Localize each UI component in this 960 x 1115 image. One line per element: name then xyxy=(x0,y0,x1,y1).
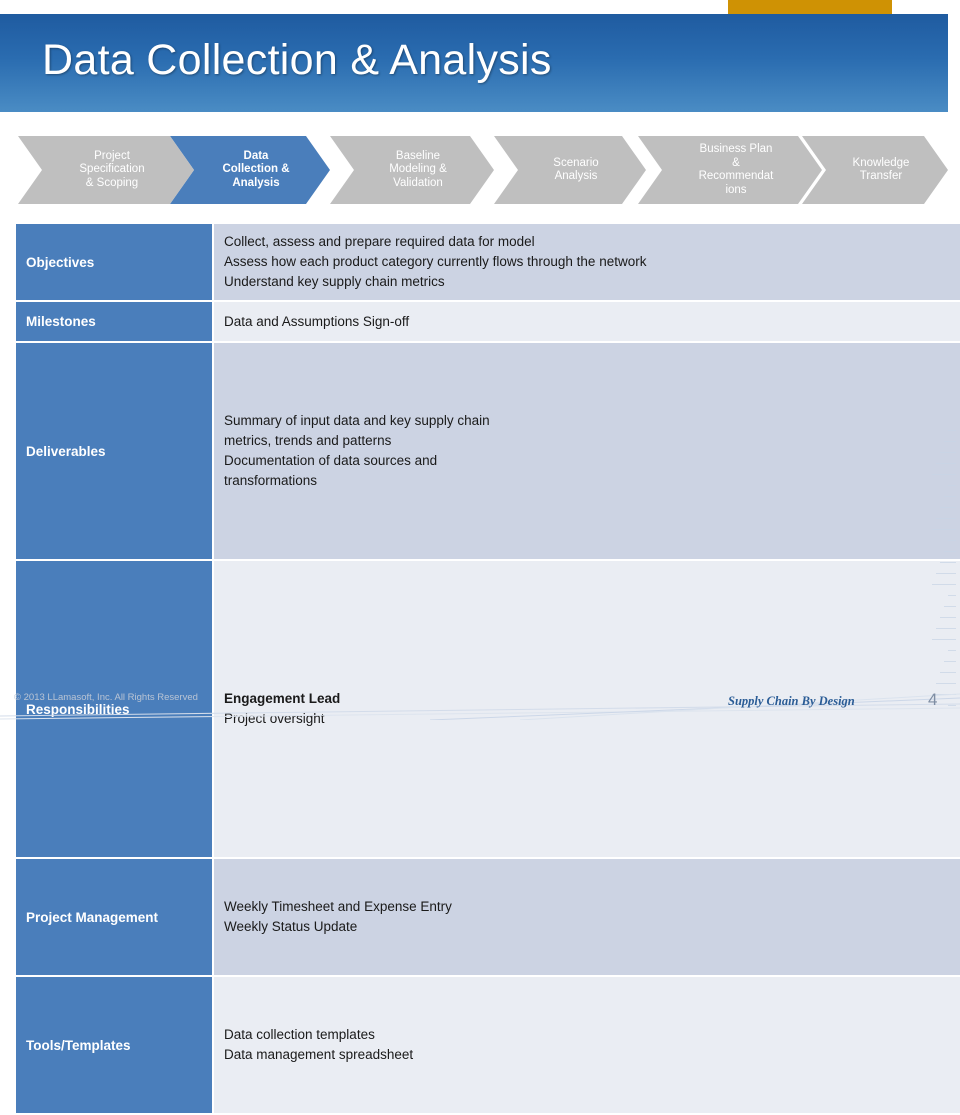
row-content-cell: Summary of input data and key supply cha… xyxy=(213,342,960,560)
page-number: 4 xyxy=(928,690,937,710)
process-step-line: & xyxy=(699,157,774,171)
table-row: Project ManagementWeekly Timesheet and E… xyxy=(15,858,960,976)
process-step-line: Knowledge xyxy=(853,157,910,171)
process-step-3[interactable]: BaselineModeling &Validation xyxy=(330,136,494,204)
process-step-label: ScenarioAnalysis xyxy=(535,157,604,184)
process-step-line: Collection & xyxy=(222,163,289,177)
process-step-line: Transfer xyxy=(853,170,910,184)
content-line: Weekly Status Update xyxy=(224,917,954,937)
process-step-line: & Scoping xyxy=(79,177,144,191)
slide-root: Data Collection & Analysis ProjectSpecif… xyxy=(0,0,960,720)
content-line: Understand key supply chain metrics xyxy=(224,272,954,292)
process-step-line: Scenario xyxy=(553,157,598,171)
process-step-2[interactable]: DataCollection &Analysis xyxy=(170,136,330,204)
process-step-line: Baseline xyxy=(389,150,447,164)
row-content-cell: Engagement LeadProject oversight xyxy=(213,560,960,858)
process-step-line: Validation xyxy=(389,177,447,191)
process-step-line: Project xyxy=(79,150,144,164)
content-line: Data collection templates xyxy=(224,1025,954,1045)
process-step-label: ProjectSpecification& Scoping xyxy=(61,150,150,191)
process-step-line: Business Plan xyxy=(699,143,774,157)
content-line: metrics, trends and patterns xyxy=(224,431,954,451)
content-line: Summary of input data and key supply cha… xyxy=(224,411,954,431)
content-line: Documentation of data sources and xyxy=(224,451,954,471)
process-step-6[interactable]: KnowledgeTransfer xyxy=(802,136,948,204)
row-label-project-management: Project Management xyxy=(15,858,213,976)
process-step-label: KnowledgeTransfer xyxy=(835,157,916,184)
content-line: Project oversight xyxy=(224,709,954,729)
process-step-line: Data xyxy=(222,150,289,164)
content-line: Assess how each product category current… xyxy=(224,252,954,272)
content-line: transformations xyxy=(224,471,954,491)
table-row: ObjectivesCollect, assess and prepare re… xyxy=(15,223,960,301)
row-content-cell: Collect, assess and prepare required dat… xyxy=(213,223,960,301)
footer-copyright: © 2013 LLamasoft, Inc. All Rights Reserv… xyxy=(14,692,198,703)
content-line: Data management spreadsheet xyxy=(224,1045,954,1065)
process-step-label: DataCollection &Analysis xyxy=(204,150,295,191)
table-row: MilestonesData and Assumptions Sign-off xyxy=(15,301,960,342)
content-line: Collect, assess and prepare required dat… xyxy=(224,232,954,252)
process-step-4[interactable]: ScenarioAnalysis xyxy=(494,136,646,204)
row-label-tools-templates: Tools/Templates xyxy=(15,976,213,1114)
process-flow: ProjectSpecification& ScopingDataCollect… xyxy=(18,136,948,204)
process-step-line: Specification xyxy=(79,163,144,177)
process-step-label: BaselineModeling &Validation xyxy=(371,150,453,191)
process-step-label: Business Plan&Recommendations xyxy=(681,143,780,197)
phase-detail-table: ObjectivesCollect, assess and prepare re… xyxy=(14,222,960,1115)
process-step-1[interactable]: ProjectSpecification& Scoping xyxy=(18,136,194,204)
row-content-cell: Data collection templatesData management… xyxy=(213,976,960,1114)
gold-accent-tab xyxy=(728,0,892,15)
row-content-cell: Weekly Timesheet and Expense EntryWeekly… xyxy=(213,858,960,976)
process-step-line: Modeling & xyxy=(389,163,447,177)
table-row: ResponsibilitiesEngagement LeadProject o… xyxy=(15,560,960,858)
row-label-milestones: Milestones xyxy=(15,301,213,342)
row-label-deliverables: Deliverables xyxy=(15,342,213,560)
table-row: Tools/TemplatesData collection templates… xyxy=(15,976,960,1114)
process-step-line: ions xyxy=(699,184,774,198)
content-line: Weekly Timesheet and Expense Entry xyxy=(224,897,954,917)
process-step-line: Recommendat xyxy=(699,170,774,184)
row-label-objectives: Objectives xyxy=(15,223,213,301)
row-content-cell: Data and Assumptions Sign-off xyxy=(213,301,960,342)
content-line: Data and Assumptions Sign-off xyxy=(224,312,954,332)
page-title: Data Collection & Analysis xyxy=(42,36,552,85)
process-step-line: Analysis xyxy=(553,170,598,184)
table-row: DeliverablesSummary of input data and ke… xyxy=(15,342,960,560)
footer-logo: Supply Chain By Design xyxy=(728,694,855,709)
process-step-5[interactable]: Business Plan&Recommendations xyxy=(638,136,822,204)
process-step-line: Analysis xyxy=(222,177,289,191)
row-label-responsibilities: Responsibilities xyxy=(15,560,213,858)
